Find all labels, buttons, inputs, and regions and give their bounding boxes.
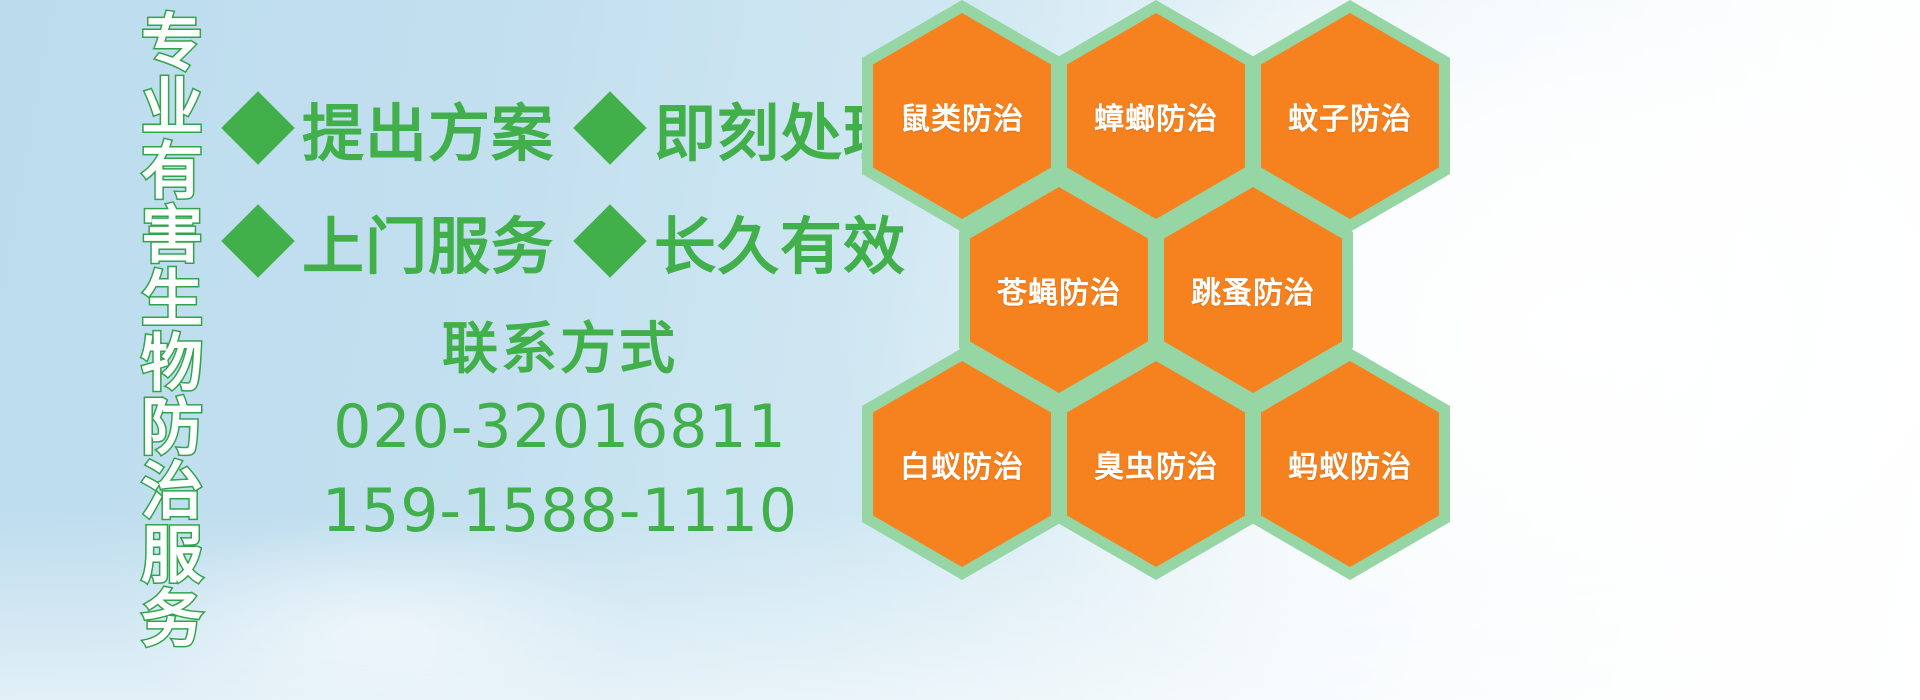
service-label: 臭虫防治 [1056, 348, 1256, 580]
feature-label-1: 提出方案 [302, 83, 554, 173]
service-label: 白蚁防治 [862, 348, 1062, 580]
diamond-bullet-icon [573, 91, 647, 165]
service-label: 蚂蚁防治 [1250, 348, 1450, 580]
service-hex-termite[interactable]: 白蚁防治 [862, 348, 1062, 580]
contact-block: 联系方式 020-32016811 159-1588-1110 [300, 318, 820, 550]
service-honeycomb: 鼠类防治 蟑螂防治 蚊子防治 苍蝇防治 跳蚤防治 白蚁防治 [860, 0, 1460, 700]
feature-row-2: 上门服务 长久有效 [232, 196, 906, 286]
diamond-bullet-icon [221, 91, 295, 165]
promo-banner: 专业有害生物防治服务 提出方案 即刻处理 上门服务 长久有效 联系方式 020-… [0, 0, 1920, 700]
diamond-bullet-icon [221, 204, 295, 278]
service-hex-bedbug[interactable]: 臭虫防治 [1056, 348, 1256, 580]
feature-label-3: 上门服务 [302, 196, 554, 286]
feature-row-1: 提出方案 即刻处理 [232, 83, 906, 173]
diamond-bullet-icon [573, 204, 647, 278]
contact-phone-landline[interactable]: 020-32016811 [300, 388, 820, 466]
contact-title: 联系方式 [300, 318, 820, 382]
service-hex-ant[interactable]: 蚂蚁防治 [1250, 348, 1450, 580]
contact-phone-mobile[interactable]: 159-1588-1110 [300, 472, 820, 550]
vertical-title: 专业有害生物防治服务 [108, 10, 198, 670]
